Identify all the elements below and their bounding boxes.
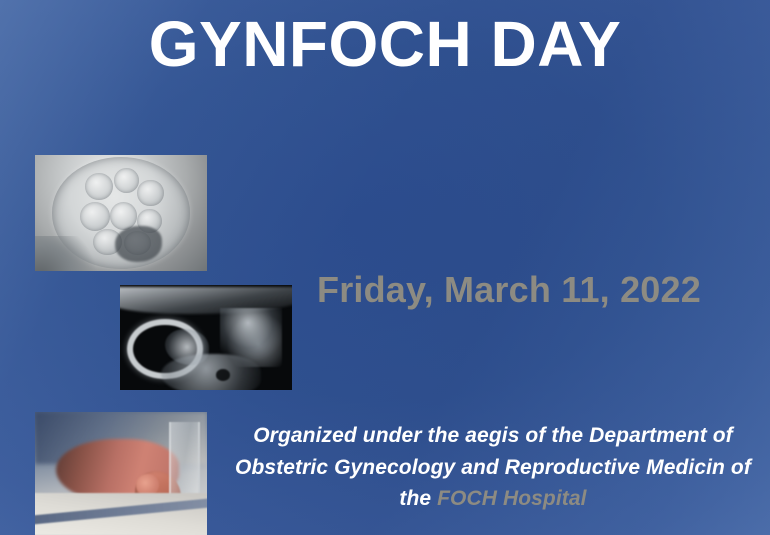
organizer-hospital-name: FOCH Hospital bbox=[437, 487, 586, 510]
fetal-ultrasound-photo bbox=[120, 285, 292, 390]
organizer-statement: Organized under the aegis of the Departm… bbox=[228, 420, 758, 515]
embryo-shadow bbox=[35, 236, 100, 271]
embryo-cell bbox=[114, 168, 139, 192]
embryo-cell bbox=[137, 180, 163, 207]
embryo-cell bbox=[85, 173, 113, 200]
presentation-slide: GYNFOCH DAY Frid bbox=[0, 0, 770, 535]
event-date: Friday, March 11, 2022 bbox=[312, 268, 706, 312]
inner-cell-mass bbox=[115, 226, 162, 262]
newborn-incubator-photo bbox=[35, 412, 207, 535]
embryo-cell bbox=[80, 202, 110, 231]
embryo-blastocyst-photo bbox=[35, 155, 207, 271]
ultrasound-fetal-body bbox=[161, 354, 261, 390]
page-title: GYNFOCH DAY bbox=[0, 10, 770, 79]
ultrasound-dark-spot bbox=[216, 369, 230, 381]
